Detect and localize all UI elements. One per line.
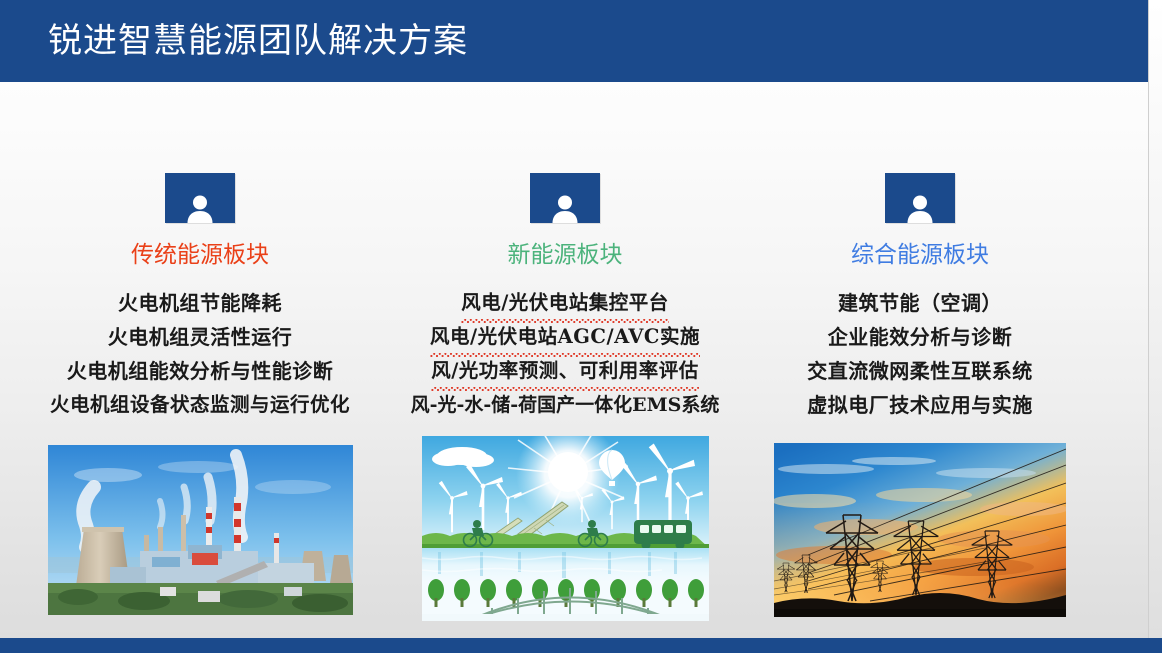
column-lines-integrated-energy: 建筑节能（空调） 企业能效分析与诊断 交直流微网柔性互联系统 虚拟电厂技术应用与… — [742, 286, 1098, 422]
list-item: 虚拟电厂技术应用与实施 — [742, 388, 1098, 422]
slide-canvas: 锐进智慧能源团队解决方案 传统能源板块 火电机组节能降耗 火电机组灵活性运行 火… — [0, 0, 1162, 653]
spellcheck-span: 风/光功率预测、可利用率评估 — [431, 354, 699, 388]
spellcheck-span: 风电/光伏电站集控平台 — [461, 286, 669, 320]
list-item: 火电机组灵活性运行 — [22, 320, 378, 354]
green-energy-illustration-photo — [422, 436, 709, 621]
list-item: 风/光功率预测、可利用率评估 — [387, 354, 743, 388]
column-heading-traditional-energy: 传统能源板块 — [22, 240, 378, 270]
list-item: 风电/光伏电站集控平台 — [387, 286, 743, 320]
spellcheck-span: 风电/光伏电站AGC/AVC实施 — [430, 320, 700, 354]
column-traditional-energy: 传统能源板块 火电机组节能降耗 火电机组灵活性运行 火电机组能效分析与性能诊断 … — [22, 82, 378, 615]
list-item: 火电机组能效分析与性能诊断 — [22, 354, 378, 388]
list-item: 企业能效分析与诊断 — [742, 320, 1098, 354]
person-icon — [885, 173, 955, 223]
right-edge-strip — [1148, 0, 1162, 653]
thermal-power-plant-photo — [48, 445, 353, 615]
column-new-energy: 新能源板块 风电/光伏电站集控平台 风电/光伏电站AGC/AVC实施 风/光功率… — [387, 82, 743, 621]
power-transmission-towers-sunset-photo — [774, 443, 1066, 617]
slide-footer-bar — [0, 638, 1162, 653]
list-item: 风-光-水-储-荷国产一体化EMS系统 — [387, 388, 743, 422]
column-heading-new-energy: 新能源板块 — [387, 240, 743, 270]
column-integrated-energy: 综合能源板块 建筑节能（空调） 企业能效分析与诊断 交直流微网柔性互联系统 虚拟… — [742, 82, 1098, 617]
list-item: 火电机组节能降耗 — [22, 286, 378, 320]
column-lines-traditional-energy: 火电机组节能降耗 火电机组灵活性运行 火电机组能效分析与性能诊断 火电机组设备状… — [22, 286, 378, 422]
person-icon — [165, 173, 235, 223]
list-item: 交直流微网柔性互联系统 — [742, 354, 1098, 388]
person-icon — [530, 173, 600, 223]
column-lines-new-energy: 风电/光伏电站集控平台 风电/光伏电站AGC/AVC实施 风/光功率预测、可利用… — [387, 286, 743, 422]
page-title: 锐进智慧能源团队解决方案 — [48, 17, 468, 65]
list-item: 风电/光伏电站AGC/AVC实施 — [387, 320, 743, 354]
list-item: 火电机组设备状态监测与运行优化 — [22, 388, 378, 422]
list-item: 建筑节能（空调） — [742, 286, 1098, 320]
columns-container: 传统能源板块 火电机组节能降耗 火电机组灵活性运行 火电机组能效分析与性能诊断 … — [0, 82, 1148, 638]
slide-header-bar: 锐进智慧能源团队解决方案 — [0, 0, 1148, 82]
column-heading-integrated-energy: 综合能源板块 — [742, 240, 1098, 270]
